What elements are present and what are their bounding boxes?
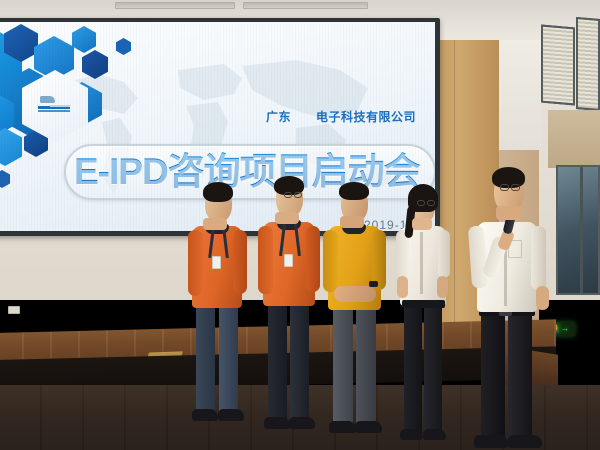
arm xyxy=(438,230,450,278)
hexagon-shape xyxy=(0,170,10,188)
neck xyxy=(412,218,432,230)
leg xyxy=(481,312,505,444)
belt xyxy=(402,300,445,308)
company-logo-icon xyxy=(38,96,72,116)
neck xyxy=(340,216,364,228)
id-badge xyxy=(284,254,293,267)
leg xyxy=(219,300,238,416)
leg xyxy=(404,300,422,436)
forearm xyxy=(397,276,408,298)
hexagon-shape xyxy=(116,38,131,55)
window-lower-right xyxy=(556,165,600,295)
arm xyxy=(188,230,203,296)
shoe xyxy=(355,421,382,433)
photo-scene: 🚶→ xyxy=(0,0,600,450)
window-upper-left xyxy=(541,25,575,106)
ceiling-vent xyxy=(243,2,368,9)
id-badge xyxy=(212,256,221,269)
leg xyxy=(196,300,215,416)
neck xyxy=(203,218,227,230)
hair xyxy=(203,182,233,202)
shoe xyxy=(508,435,542,448)
window-sill xyxy=(548,110,600,168)
leg xyxy=(356,302,376,428)
blouse-button-placket xyxy=(420,232,423,294)
arm xyxy=(258,226,273,294)
clasped-hands xyxy=(334,286,376,302)
shoe xyxy=(264,417,290,429)
wristwatch xyxy=(369,281,378,287)
shoe xyxy=(192,409,218,421)
window-blinds xyxy=(543,27,573,104)
shoe xyxy=(218,409,244,421)
window-blinds xyxy=(578,19,598,109)
wall-outlet xyxy=(8,306,20,314)
leg xyxy=(424,300,442,436)
shoe xyxy=(329,421,356,433)
slide-title: E-IPD咨询项目启动会 xyxy=(74,148,434,196)
arm xyxy=(531,226,546,290)
leg xyxy=(268,300,287,424)
hexagon-shape xyxy=(72,26,96,53)
window-glass xyxy=(558,167,598,293)
leg xyxy=(290,300,309,424)
hand xyxy=(536,286,549,310)
shoe xyxy=(474,435,508,448)
leg xyxy=(508,312,532,444)
arm xyxy=(306,226,320,292)
neck xyxy=(496,206,521,220)
right-wall-upper xyxy=(499,40,541,152)
hair xyxy=(339,182,369,200)
slide-company-name: 广东 电子科技有限公司 xyxy=(266,108,416,125)
shoe xyxy=(423,429,446,440)
forearm xyxy=(437,276,448,298)
arm xyxy=(233,230,247,294)
arm xyxy=(323,230,338,292)
leg xyxy=(333,302,353,428)
hexagon-shape xyxy=(82,50,108,79)
ceiling-vent xyxy=(115,2,235,9)
window-mullion xyxy=(580,167,583,293)
window-upper-right xyxy=(576,17,600,111)
shoe xyxy=(289,417,315,429)
shoe xyxy=(400,429,423,440)
neck xyxy=(275,212,299,224)
hexagon-shape xyxy=(0,128,22,166)
